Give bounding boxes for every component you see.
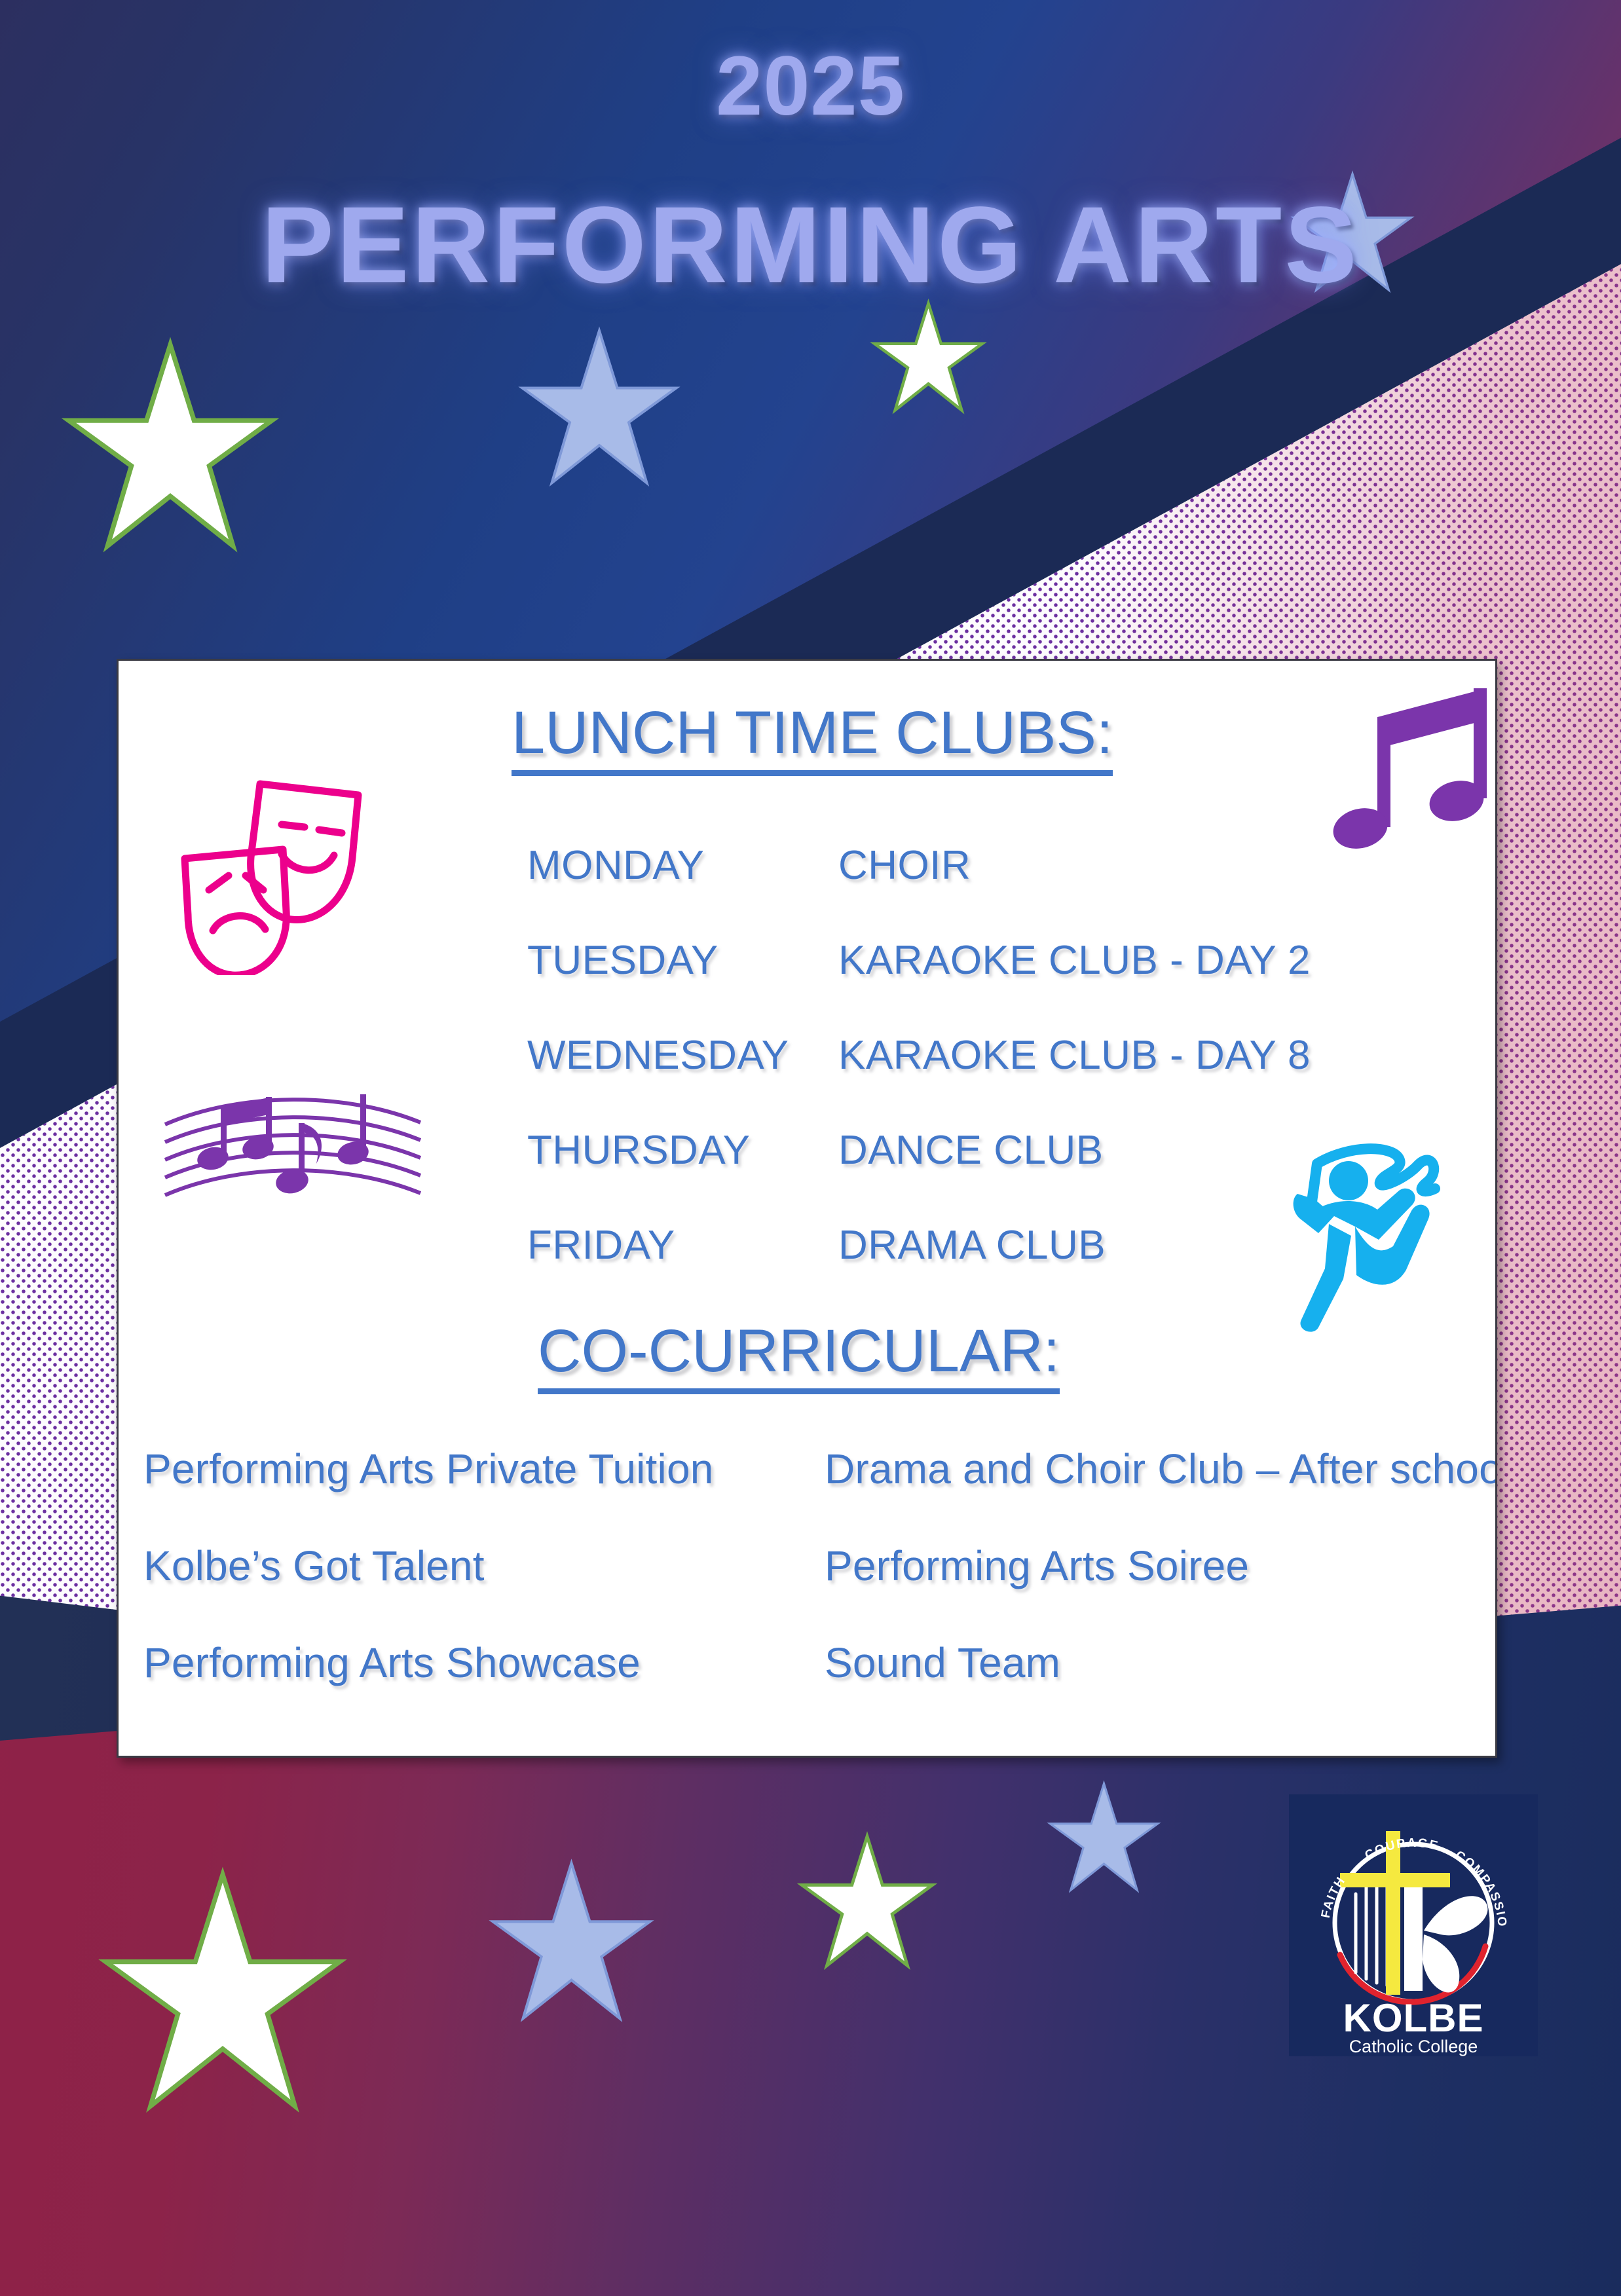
poster-year: 2025 bbox=[0, 38, 1621, 134]
club-row: MONDAY CHOIR bbox=[527, 818, 1457, 913]
co-curricular-list: Performing Arts Private Tuition Drama an… bbox=[143, 1420, 1480, 1711]
co-curricular-item: Performing Arts Private Tuition bbox=[143, 1445, 825, 1493]
content-card: LUNCH TIME CLUBS: MONDAY CHOIR TUESDAY K… bbox=[117, 659, 1497, 1758]
theatre-masks-icon bbox=[162, 759, 388, 975]
club-row: WEDNESDAY KARAOKE CLUB - DAY 8 bbox=[527, 1008, 1457, 1103]
svg-text:COURAGE: COURAGE bbox=[1363, 1836, 1440, 1862]
star-white-top-mid bbox=[871, 301, 986, 416]
logo-motto-courage: COURAGE bbox=[1363, 1836, 1440, 1862]
logo-subtitle: Catholic College bbox=[1349, 2037, 1478, 2056]
kolbe-catholic-college-logo: FAITH COURAGE COMPASSION KOLBE Catholic … bbox=[1289, 1794, 1538, 2056]
club-name: DRAMA CLUB bbox=[838, 1222, 1106, 1268]
svg-text:FAITH: FAITH bbox=[1319, 1874, 1349, 1919]
performing-arts-poster: 2025 PERFORMING ARTS bbox=[0, 0, 1621, 2296]
lunch-clubs-list: MONDAY CHOIR TUESDAY KARAOKE CLUB - DAY … bbox=[527, 818, 1457, 1293]
co-curricular-heading: CO-CURRICULAR: bbox=[538, 1317, 1060, 1394]
co-curricular-row: Kolbe’s Got Talent Performing Arts Soire… bbox=[143, 1517, 1480, 1614]
co-curricular-item: Performing Arts Showcase bbox=[143, 1639, 825, 1687]
star-blue-top-left bbox=[517, 327, 681, 491]
star-blue-bottom-left bbox=[488, 1860, 655, 2027]
lunch-clubs-heading: LUNCH TIME CLUBS: bbox=[512, 699, 1113, 776]
club-day: MONDAY bbox=[527, 842, 838, 889]
logo-motto-faith: FAITH bbox=[1319, 1874, 1349, 1919]
club-day: WEDNESDAY bbox=[527, 1032, 838, 1079]
star-white-bottom-left bbox=[98, 1870, 347, 2119]
club-day: FRIDAY bbox=[527, 1222, 838, 1268]
club-name: CHOIR bbox=[838, 842, 971, 889]
club-row: THURSDAY DANCE CLUB bbox=[527, 1103, 1457, 1198]
star-white-bottom-mid bbox=[798, 1834, 937, 1972]
club-day: THURSDAY bbox=[527, 1127, 838, 1174]
club-row: TUESDAY KARAOKE CLUB - DAY 2 bbox=[527, 913, 1457, 1008]
co-curricular-item: Sound Team bbox=[825, 1639, 1060, 1687]
club-name: KARAOKE CLUB - DAY 8 bbox=[838, 1032, 1311, 1079]
star-blue-bottom-right bbox=[1047, 1781, 1161, 1896]
co-curricular-item: Performing Arts Soiree bbox=[825, 1542, 1249, 1590]
co-curricular-row: Performing Arts Private Tuition Drama an… bbox=[143, 1420, 1480, 1517]
logo-wordmark: KOLBE bbox=[1343, 1996, 1484, 2040]
co-curricular-item: Drama and Choir Club – After school bbox=[825, 1445, 1497, 1493]
co-curricular-heading-text: CO-CURRICULAR: bbox=[538, 1317, 1060, 1394]
club-row: FRIDAY DRAMA CLUB bbox=[527, 1198, 1457, 1293]
lunch-clubs-heading-text: LUNCH TIME CLUBS: bbox=[512, 699, 1113, 776]
poster-title: PERFORMING ARTS bbox=[0, 183, 1621, 308]
club-day: TUESDAY bbox=[527, 937, 838, 984]
club-name: DANCE CLUB bbox=[838, 1127, 1104, 1174]
music-staff-icon bbox=[162, 1060, 424, 1214]
co-curricular-row: Performing Arts Showcase Sound Team bbox=[143, 1614, 1480, 1711]
club-name: KARAOKE CLUB - DAY 2 bbox=[838, 937, 1311, 984]
star-white-top-left bbox=[62, 341, 278, 557]
co-curricular-item: Kolbe’s Got Talent bbox=[143, 1542, 825, 1590]
